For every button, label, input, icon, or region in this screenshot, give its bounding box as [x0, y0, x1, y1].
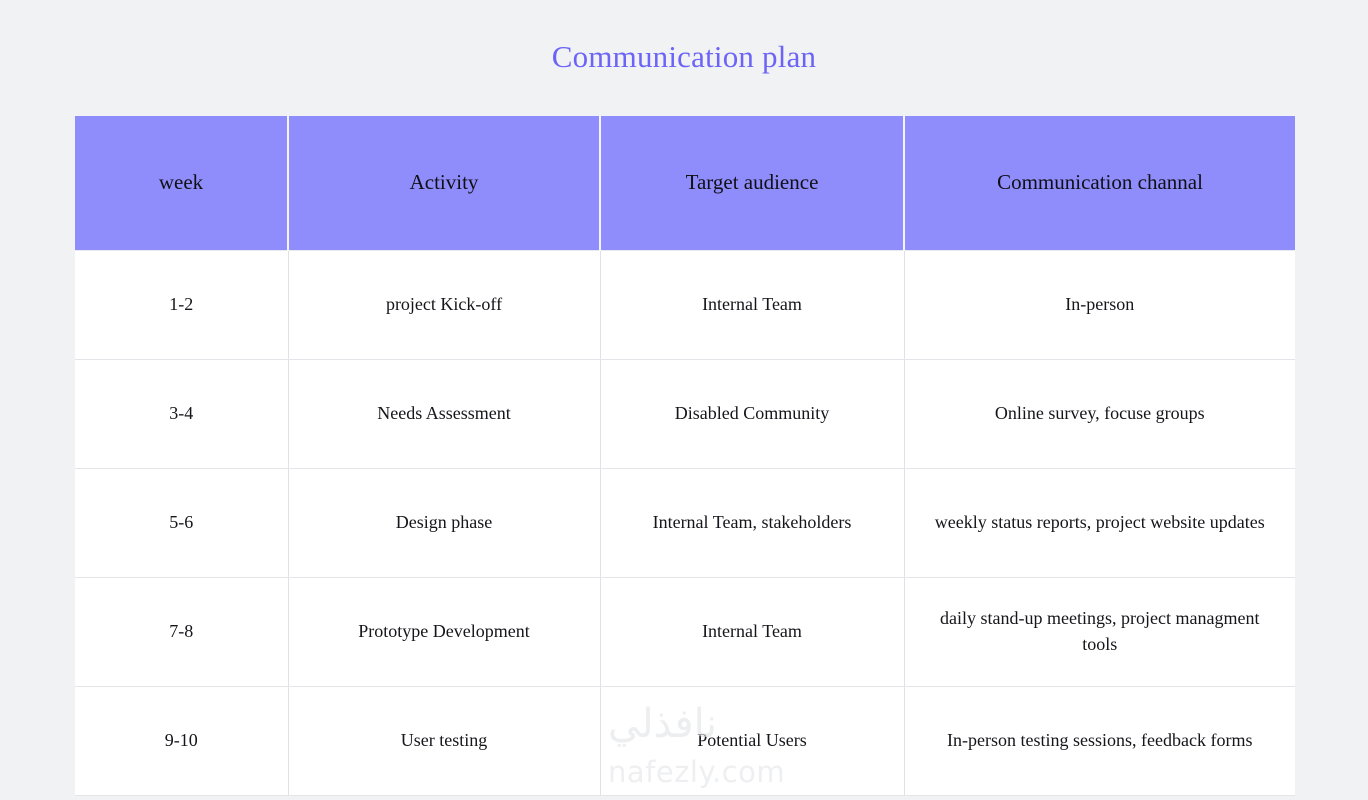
cell-channel: weekly status reports, project website u… — [904, 468, 1295, 577]
cell-activity: Needs Assessment — [288, 359, 600, 468]
table-row: 5-6 Design phase Internal Team, stakehol… — [75, 468, 1295, 577]
cell-audience: Internal Team — [600, 250, 904, 359]
page-root: Communication plan week Activity Target … — [0, 0, 1368, 800]
cell-activity: project Kick-off — [288, 250, 600, 359]
cell-activity: Prototype Development — [288, 577, 600, 686]
table-row: 3-4 Needs Assessment Disabled Community … — [75, 359, 1295, 468]
cell-channel: Online survey, focuse groups — [904, 359, 1295, 468]
cell-audience: Potential Users — [600, 686, 904, 795]
table-body: 1-2 project Kick-off Internal Team In-pe… — [75, 250, 1295, 795]
table-row: 7-8 Prototype Development Internal Team … — [75, 577, 1295, 686]
column-header-week: week — [75, 116, 288, 250]
cell-week: 3-4 — [75, 359, 288, 468]
cell-activity: Design phase — [288, 468, 600, 577]
column-header-activity: Activity — [288, 116, 600, 250]
page-title: Communication plan — [0, 38, 1368, 75]
cell-week: 7-8 — [75, 577, 288, 686]
column-header-communication-channal: Communication channal — [904, 116, 1295, 250]
communication-plan-table-wrapper: week Activity Target audience Communicat… — [75, 116, 1295, 796]
cell-channel: daily stand-up meetings, project managme… — [904, 577, 1295, 686]
cell-week: 5-6 — [75, 468, 288, 577]
table-row: 9-10 User testing Potential Users In-per… — [75, 686, 1295, 795]
cell-week: 1-2 — [75, 250, 288, 359]
table-row: 1-2 project Kick-off Internal Team In-pe… — [75, 250, 1295, 359]
cell-audience: Disabled Community — [600, 359, 904, 468]
cell-activity: User testing — [288, 686, 600, 795]
cell-channel: In-person testing sessions, feedback for… — [904, 686, 1295, 795]
cell-channel: In-person — [904, 250, 1295, 359]
communication-plan-table: week Activity Target audience Communicat… — [75, 116, 1295, 796]
table-header-row: week Activity Target audience Communicat… — [75, 116, 1295, 250]
cell-audience: Internal Team — [600, 577, 904, 686]
cell-week: 9-10 — [75, 686, 288, 795]
table-header: week Activity Target audience Communicat… — [75, 116, 1295, 250]
column-header-target-audience: Target audience — [600, 116, 904, 250]
cell-audience: Internal Team, stakeholders — [600, 468, 904, 577]
